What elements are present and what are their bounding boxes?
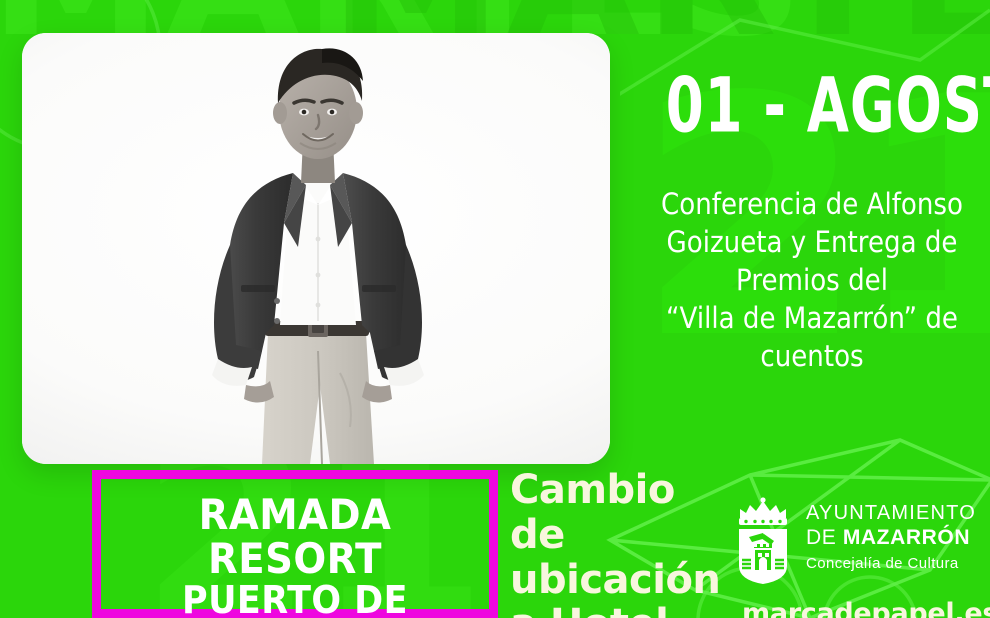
event-description: Conferencia de Alfonso Goizueta y Entreg… [657, 186, 967, 376]
venue-name: RAMADA RESORT [117, 493, 474, 580]
venue-box: RAMADA RESORT PUERTO DE MAZARRÓN [92, 470, 498, 618]
notice-line: ubicación [510, 558, 720, 603]
logo-line-department: Concejalía de Cultura [806, 553, 976, 574]
coat-of-arms-icon [730, 496, 796, 584]
speaker-portrait-image [22, 33, 610, 464]
location-change-notice: Cambio de ubicación a Hotel [510, 468, 720, 618]
event-date: 01 - AGOSTO [666, 68, 956, 144]
description-line: Conferencia de Alfonso [657, 186, 967, 224]
notice-line: Cambio [510, 468, 720, 513]
notice-line: a Hotel [510, 602, 720, 618]
description-line: Premios del [657, 262, 967, 300]
logo-mazarron: MAZARRÓN [843, 526, 970, 549]
venue-location: PUERTO DE MAZARRÓN [117, 580, 474, 618]
description-line: cuentos [657, 338, 967, 376]
description-line: Goizueta y Entrega de [657, 224, 967, 262]
event-poster: MARTES MARTES 21 21 [0, 0, 990, 618]
speaker-photo-card [22, 33, 610, 464]
logo-line-municipality: DE MAZARRÓN [806, 526, 976, 551]
ayuntamiento-logo: AYUNTAMIENTO DE MAZARRÓN Concejalía de C… [730, 496, 980, 584]
logo-text: AYUNTAMIENTO DE MAZARRÓN Concejalía de C… [806, 502, 976, 574]
notice-line: de [510, 513, 720, 558]
description-line: “Villa de Mazarrón” de [657, 300, 967, 338]
logo-de: DE [806, 526, 843, 549]
venue-text: RAMADA RESORT PUERTO DE MAZARRÓN [101, 493, 489, 618]
footer-website[interactable]: marcadepapel.es [742, 598, 990, 618]
logo-line-ayuntamiento: AYUNTAMIENTO [806, 502, 976, 526]
